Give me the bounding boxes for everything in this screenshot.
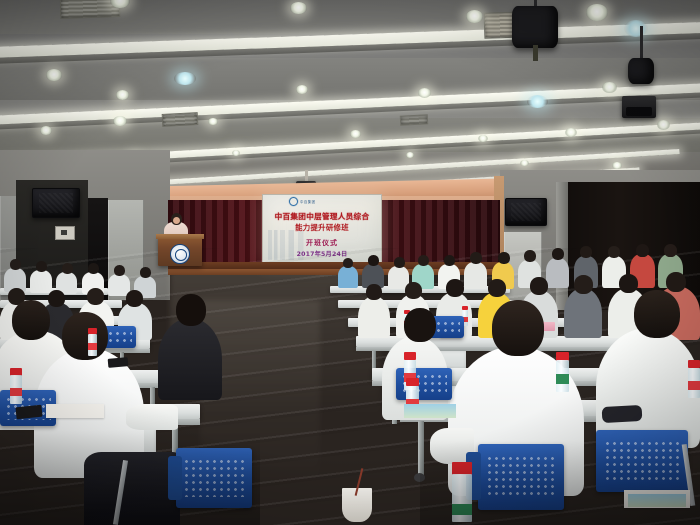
audience-head: [498, 252, 510, 264]
audience-head: [619, 274, 638, 293]
downlight-16: [657, 120, 670, 130]
audience-head: [636, 244, 649, 257]
audience-head: [366, 284, 382, 300]
conference-room-photo: 中百集团 中百集团中层管理人员综合 能力提升研修班 开班仪式 2017年5月24…: [0, 0, 700, 525]
bottle-label: [556, 374, 569, 384]
bottle-body: [452, 474, 472, 522]
audience-head: [368, 255, 379, 266]
hanging-speaker-1: [512, 6, 558, 48]
audience-head: [140, 267, 151, 278]
audience-member: [464, 262, 487, 289]
downlight-5: [46, 69, 62, 81]
downlight-4: [466, 10, 483, 23]
audience-head: [530, 277, 548, 295]
hvac-vent-3: [162, 112, 199, 127]
audience-head: [343, 258, 353, 268]
projector-lens-rear: [626, 107, 652, 116]
audience-head: [12, 300, 50, 340]
downlight-7: [418, 88, 431, 98]
audience-head: [470, 252, 482, 264]
audience-head: [10, 259, 21, 270]
podium-top: [156, 234, 204, 239]
audience-head: [574, 275, 593, 294]
downlight-13: [350, 130, 361, 138]
slide-logo-ring: [289, 197, 298, 206]
water-bottle: [452, 462, 472, 522]
downlight-10: [40, 126, 52, 135]
chair: [596, 430, 688, 492]
presenter-face: [173, 217, 180, 224]
audience-head: [36, 261, 47, 272]
bottle-label: [88, 343, 97, 350]
audience-head: [404, 308, 436, 342]
audience-head: [87, 288, 104, 305]
slide-title-line2: 能力提升研修班: [263, 222, 381, 233]
wall-speaker-left: [32, 188, 80, 218]
slide-logo: 中百集团: [289, 197, 316, 206]
audience-head: [608, 246, 620, 258]
audience-member: [546, 258, 569, 288]
audience-member: [338, 266, 358, 288]
audience-member: [564, 288, 602, 338]
audience-head: [444, 255, 455, 266]
downlight-8: [602, 82, 617, 93]
spotlight-2: [174, 72, 196, 85]
audience-member: [158, 318, 222, 400]
audience-head: [48, 290, 65, 307]
water-bottle: [556, 352, 569, 392]
audience-head: [126, 290, 143, 307]
table-caster: [414, 473, 425, 482]
table-leg: [418, 421, 424, 475]
speaker-mount-rod-1b: [533, 45, 538, 61]
audience-head: [580, 246, 592, 258]
spotlight-3: [527, 95, 548, 108]
audience-member: [358, 296, 390, 338]
audience-head: [524, 250, 536, 262]
audience-trousers: [84, 452, 180, 525]
downlight-18: [232, 150, 240, 156]
audience-head: [88, 263, 99, 274]
smartphone: [602, 405, 643, 423]
chair-arm: [168, 456, 182, 500]
audience-arm: [126, 404, 178, 430]
downlight-14: [478, 135, 488, 142]
audience-head: [176, 294, 206, 326]
audience-head: [394, 257, 405, 268]
audience-head: [405, 282, 422, 299]
slide-logo-text: 中百集团: [300, 199, 316, 204]
open-notebook: [404, 404, 456, 418]
audience-head: [666, 272, 686, 292]
downlight-20: [520, 160, 529, 166]
water-bottle: [688, 360, 700, 398]
audience-head: [634, 290, 680, 338]
slide-title-line1: 中百集团中层管理人员综合: [263, 211, 381, 222]
downlight-11: [113, 116, 127, 126]
left-wall-plate-dot: [61, 230, 67, 235]
podium-emblem: [170, 244, 190, 264]
audience-head: [418, 255, 429, 266]
water-bottle: [10, 368, 22, 404]
downlight-9: [296, 85, 308, 94]
audience-head: [488, 279, 506, 297]
downlight-6: [116, 90, 129, 100]
downlight-21: [612, 162, 622, 169]
audience-head: [446, 279, 464, 297]
downlight-2: [290, 2, 307, 14]
downlight-12: [208, 118, 218, 125]
audience-head: [62, 312, 108, 360]
downlight-3: [586, 4, 608, 21]
chair: [478, 444, 564, 510]
notebook: [46, 404, 104, 418]
audience-head: [552, 248, 564, 260]
hanging-speaker-2: [628, 58, 654, 84]
audience-head: [62, 263, 73, 274]
bottle-label: [10, 388, 22, 397]
downlight-19: [406, 152, 414, 158]
slide-subtitle: 开班仪式: [263, 238, 381, 248]
chair: [176, 448, 252, 508]
water-bottle: [88, 328, 97, 356]
audience-head: [664, 244, 677, 257]
bottle-label: [688, 381, 700, 390]
wall-speaker-right: [505, 198, 547, 226]
speaker-mount-rod-2: [640, 26, 643, 60]
open-notebook: [628, 494, 686, 507]
smartphone: [108, 357, 129, 368]
audience-member: [30, 270, 52, 293]
bottle-label: [452, 504, 472, 515]
downlight-15: [565, 128, 577, 137]
spotlight-1: [624, 20, 648, 37]
audience-head: [492, 300, 544, 356]
audience-head: [114, 265, 125, 276]
hvac-vent-4: [400, 114, 428, 125]
